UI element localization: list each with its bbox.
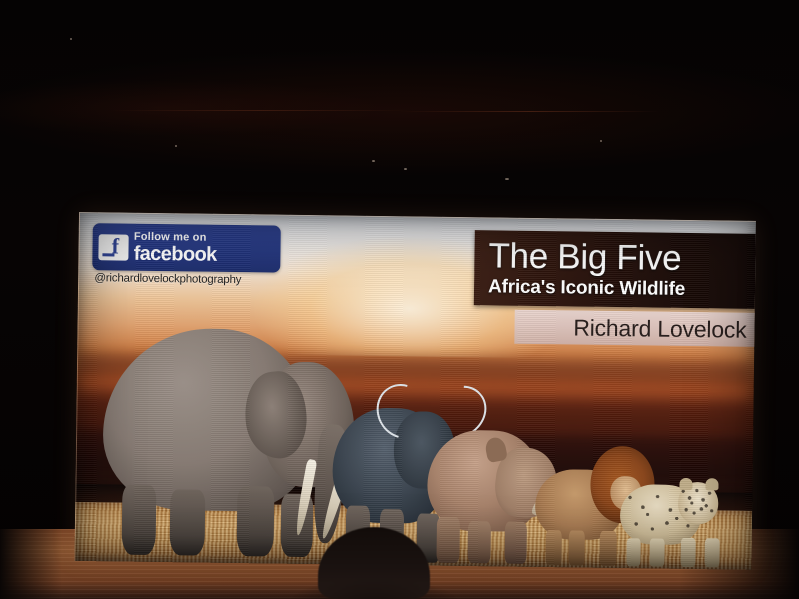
leopard-ear	[705, 478, 719, 491]
backdrop-speck	[505, 178, 509, 180]
backdrop-speck	[175, 145, 177, 147]
backdrop-speck	[372, 160, 375, 162]
photographer-handle: @richardlovelockphotography	[94, 272, 241, 286]
facebook-follow-badge[interactable]: Follow me on facebook	[92, 223, 281, 273]
backdrop-speck	[70, 38, 72, 40]
floor-shadow-left	[0, 529, 62, 599]
author-band: Richard Lovelock	[514, 310, 755, 346]
elephant-leg	[237, 486, 274, 556]
backdrop-speck	[600, 140, 602, 142]
title-band: The Big Five Africa's Iconic Wildlife	[474, 230, 756, 309]
elephant-leg	[169, 489, 205, 556]
facebook-f-icon	[99, 234, 129, 260]
slide-subtitle: Africa's Iconic Wildlife	[488, 276, 755, 301]
backdrop-light-streak	[400, 111, 660, 112]
lion-leg	[545, 531, 562, 566]
backdrop-light-streak	[110, 110, 410, 111]
leopard-leg	[626, 539, 641, 567]
leopard-leg	[704, 538, 719, 568]
leopard-leg	[650, 539, 665, 567]
facebook-badge-text: Follow me on facebook	[134, 231, 217, 264]
author-name: Richard Lovelock	[573, 314, 747, 343]
slide-title: The Big Five	[488, 238, 755, 276]
facebook-follow-label: Follow me on	[134, 231, 217, 243]
elephant-leg	[122, 485, 157, 555]
rhino-leg	[437, 517, 461, 563]
facebook-wordmark: facebook	[134, 243, 217, 264]
lion-leg	[599, 531, 617, 566]
leopard-ear	[679, 478, 693, 491]
photo-scene: Follow me on facebook @richardlovelockph…	[0, 0, 799, 599]
leopard-leg	[680, 538, 695, 568]
rhino-leg	[504, 521, 526, 563]
lion-leg	[569, 531, 586, 566]
backdrop-speck	[404, 168, 407, 170]
projection-screen[interactable]: Follow me on facebook @richardlovelockph…	[74, 212, 756, 570]
rhino-leg	[467, 521, 491, 563]
